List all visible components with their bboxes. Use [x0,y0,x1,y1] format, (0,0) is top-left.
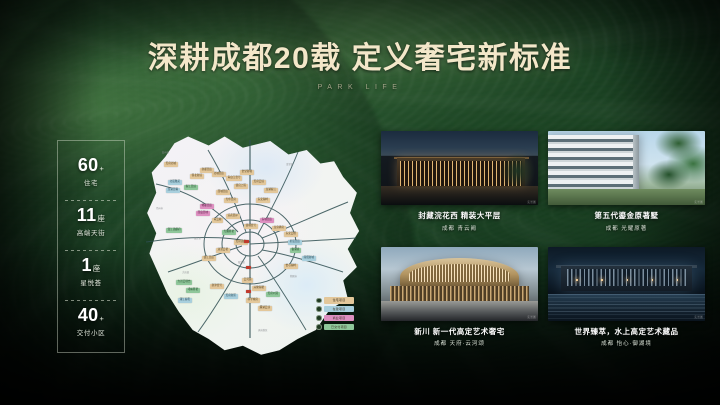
project-card[interactable]: 实景图 新川 新一代高定艺术奢宅 成都 天府·云河颂 [381,247,538,354]
map-project-pill: 锦城壹号 [244,224,258,229]
photo-watermark: 实景图 [527,315,536,319]
map-project-pill: 光耀原著 [222,230,236,235]
stat-unit: + [99,165,104,173]
map-project-pill: 温江锦麟府 [166,228,182,233]
project-title: 世界臻萃，水上高定艺术藏品 [548,326,705,337]
map-district-label: 双流区 [238,260,245,264]
legend-bullet-icon [316,306,322,312]
map-district-label: 彭州市 [162,150,169,154]
map-project-pill: 大邑云璟台 [176,280,192,285]
map-project-pill: 东城天街 [260,218,274,223]
map-district-label: 简阳市 [290,274,297,278]
map-project-pill: 星辰天街 [288,240,302,245]
project-photo: 实景图 [381,131,538,205]
map-project-pill: 光华天府 [224,198,238,203]
map-project-pill: 龙泉驿府 [272,226,286,231]
project-subtitle: 成都 青云阙 [381,224,538,232]
legend-label: 在建项目 [324,306,354,313]
map-project-pill: 西城天街 [216,190,230,195]
legend-item: 商业项目 [316,315,354,322]
map-project-pill: 云河颂 [242,278,253,283]
photo-watermark: 实景图 [694,315,703,319]
legend-label: 住宅项目 [324,297,354,304]
map-project-pill: 东安云栖 [284,232,298,237]
stat-item: 11 座 高端天街 [58,206,124,237]
map-project-pill: 天府公园 [266,292,280,297]
stat-label: 高端天街 [58,227,124,237]
stat-unit: 座 [97,215,105,223]
stat-unit: 座 [93,265,101,273]
map-project-pill: 北城天街 [212,172,226,177]
map-project-pill: 郫都天街 [200,204,214,209]
map-project-pill: 科学城府 [246,298,260,303]
project-title: 第五代鎏金原著墅 [548,210,705,221]
map-project-pill: 怡心湖畔 [284,264,298,269]
map-district-label: 崇州市 [156,206,163,210]
map-project-pill: 蓉北新境 [190,174,204,179]
map-project-pill: 龙湖春江 [264,188,278,193]
stat-number: 11 [77,206,97,224]
map-legend: 住宅项目 在建项目 商业项目 已交付项目 [316,297,354,330]
legend-bullet-icon [316,315,322,321]
project-card-grid: 实景图 封藏浣花西 精装大平层 成都 青云阙 实景图 第五代鎏金原著墅 成都 光… [381,131,705,353]
legend-item: 在建项目 [316,306,354,313]
map-project-pill: 锦江天街 [202,256,216,261]
project-title: 封藏浣花西 精装大平层 [381,210,538,221]
map-project-pill: 御湖境 [290,248,301,253]
project-photo: 实景图 [381,247,538,321]
project-subtitle: 成都 怡心·御湖境 [548,339,705,347]
project-card[interactable]: 实景图 第五代鎏金原著墅 成都 光耀原著 [548,131,705,238]
legend-item: 已交付项目 [316,324,354,331]
project-caption: 第五代鎏金原著墅 成都 光耀原著 [548,210,705,232]
presentation-slide: 深耕成都20载 定义奢宅新标准 PARK LIFE 60 + 住宅 11 座 高… [0,0,720,405]
map-project-pill: 天府北城 [164,162,178,167]
project-photo: 实景图 [548,247,705,321]
map-metro-marker [244,240,249,243]
stat-item: 40 + 交付小区 [58,306,124,337]
project-caption: 新川 新一代高定艺术奢宅 成都 天府·云河颂 [381,326,538,348]
stat-label: 星悦荟 [58,277,124,287]
photo-watermark: 实景图 [527,200,536,204]
map-project-pill: 蒲江春晓 [178,298,192,303]
map-project-pill: 简阳新城 [302,256,316,261]
stat-value: 11 座 [58,206,124,224]
stat-value: 1 座 [58,256,124,274]
stats-panel: 60 + 住宅 11 座 高端天街 1 座 星悦荟 40 + 交付小区 [57,140,125,353]
map-project-pill: 金堂新城 [240,170,254,175]
project-title: 新川 新一代高定艺术奢宅 [381,326,538,337]
map-project-pill: 天府云境 [252,180,266,185]
map-district-label: 金堂县 [286,162,293,166]
map-project-pill: 北辰雅苑 [168,180,182,185]
stat-value: 60 + [58,156,124,174]
project-subtitle: 成都 天府·云河颂 [381,339,538,347]
project-subtitle: 成都 光耀原著 [548,224,705,232]
map-project-pill: 春江天境 [184,185,198,190]
legend-bullet-icon [316,324,322,330]
stat-label: 交付小区 [58,327,124,337]
map-project-pill: 西宸天地 [196,211,210,216]
map-metro-marker [246,290,251,293]
map-project-pill: 麓湖云顶 [258,306,272,311]
photo-watermark: 实景图 [694,200,703,204]
project-caption: 封藏浣花西 精装大平层 成都 青云阙 [381,210,538,232]
stat-item: 60 + 住宅 [58,156,124,187]
map-project-pill: 青云阙 [212,218,223,223]
map-district-label: 大邑县 [182,270,189,274]
map-project-pill: 锦官上院 [234,184,248,189]
map-project-pill: 邛崃原著 [186,288,200,293]
project-photo: 实景图 [548,131,705,205]
map-project-pill: 青白江壹号 [226,176,242,181]
page-title: 深耕成都20载 定义奢宅新标准 [0,42,720,75]
map-district-label: 温江区 [194,236,201,240]
stat-item: 1 座 星悦荟 [58,256,124,287]
legend-item: 住宅项目 [316,297,354,304]
map-project-pill: 双流云著 [216,248,230,253]
stat-label: 住宅 [58,177,124,187]
stat-number: 40 [78,306,99,324]
title-block: 深耕成都20载 定义奢宅新标准 PARK LIFE [0,42,720,91]
map-project-pill: 新津壹号 [210,284,224,289]
stat-unit: + [99,315,104,323]
project-caption: 世界臻萃，水上高定艺术藏品 成都 怡心·御湖境 [548,326,705,348]
stat-number: 60 [78,156,99,174]
map-project-pill: 兴隆湖著 [252,286,266,291]
legend-label: 已交付项目 [324,324,354,331]
legend-label: 商业项目 [324,315,354,322]
map-metro-marker [246,266,251,269]
stat-value: 40 + [58,306,124,324]
legend-bullet-icon [316,298,322,304]
page-subtitle: PARK LIFE [0,84,720,91]
map-project-pill: 龙湖天曜 [166,188,180,193]
map-project-pill: 天府新区 [224,294,238,299]
map-project-pill: 浣花西岸 [226,214,240,219]
stat-number: 1 [81,256,91,274]
map-project-pill: 东安湖畔 [256,198,270,203]
project-card[interactable]: 实景图 封藏浣花西 精装大平层 成都 青云阙 [381,131,538,238]
map-district-label: 天府新区 [258,328,268,332]
project-card[interactable]: 实景图 世界臻萃，水上高定艺术藏品 成都 怡心·御湖境 [548,247,705,354]
